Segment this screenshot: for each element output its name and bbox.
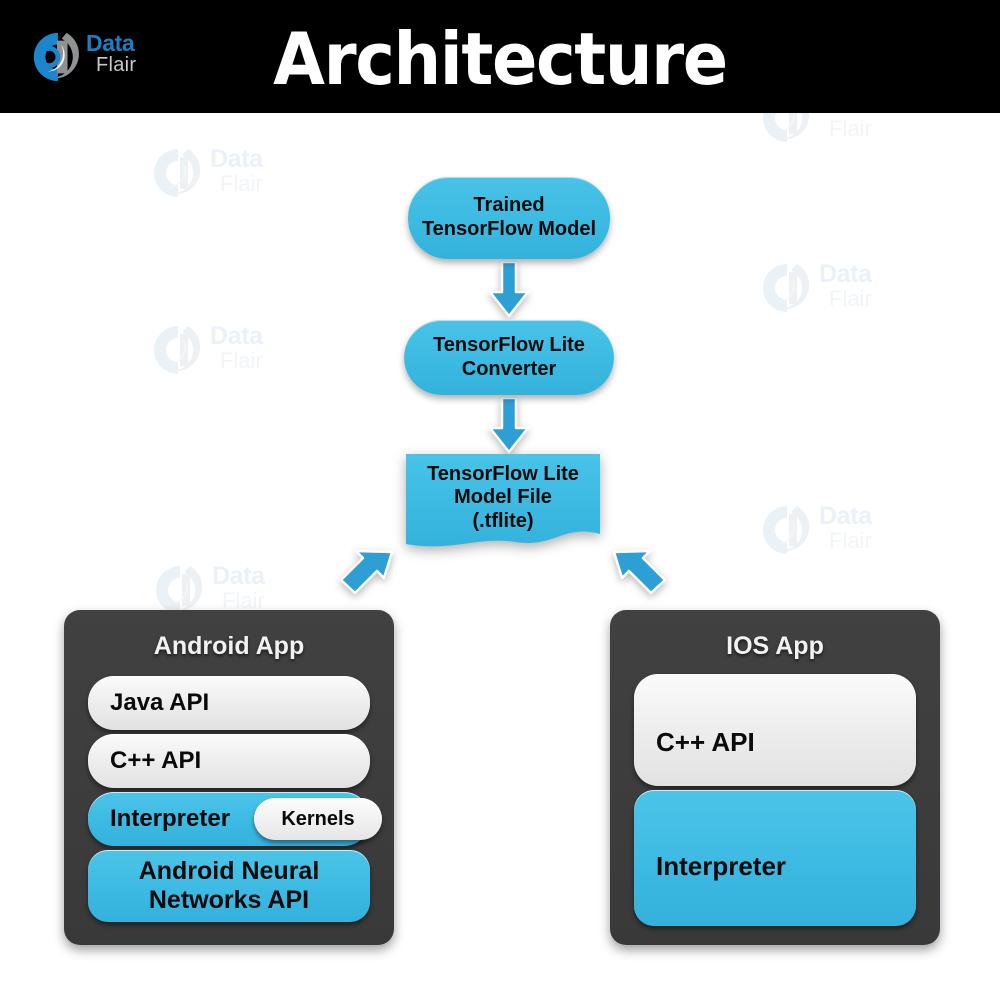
- architecture-diagram: Data Flair Data Flair Data Flair: [0, 0, 1000, 1000]
- header-bar: Data Flair Architecture: [0, 0, 1000, 113]
- watermark-line1: Data: [819, 262, 872, 288]
- panel-title-android: Android App: [64, 632, 394, 661]
- dataflair-mark-icon: [757, 260, 813, 316]
- flow-node-label: Trained TensorFlow Model: [422, 194, 596, 241]
- page-title: Architecture: [35, 17, 965, 101]
- layer-ios-interpreter[interactable]: Interpreter: [634, 790, 916, 926]
- layer-label: Android Neural Networks API: [88, 857, 370, 915]
- badge-kernels[interactable]: Kernels: [254, 798, 382, 840]
- arrow-file-to-android-icon: [336, 548, 398, 600]
- layer-label: C++ API: [656, 727, 755, 758]
- dataflair-mark-icon: [148, 322, 204, 378]
- arrow-model-to-converter-icon: [487, 262, 531, 318]
- platform-panel-ios-app: IOS App C++ API Interpreter: [610, 610, 940, 945]
- watermark-line1: Data: [210, 324, 263, 350]
- flow-node-label: TensorFlow Lite Converter: [433, 334, 585, 381]
- layer-label: Interpreter: [110, 805, 230, 833]
- watermark-line2: Flair: [819, 288, 872, 310]
- flow-node-tflite-converter[interactable]: TensorFlow Lite Converter: [404, 320, 614, 395]
- watermark-line2: Flair: [819, 530, 872, 552]
- panel-title-ios: IOS App: [610, 632, 940, 661]
- watermark-dataflair: Data Flair: [148, 143, 316, 205]
- layer-ios-cpp-api[interactable]: C++ API: [634, 674, 916, 786]
- arrow-converter-to-file-icon: [487, 398, 531, 454]
- flow-node-label: TensorFlow Lite Model File (.tflite): [404, 463, 602, 534]
- watermark-line1: Data: [210, 147, 263, 173]
- layer-label: C++ API: [110, 747, 201, 775]
- dataflair-mark-icon: [148, 145, 204, 201]
- layer-android-nn-api[interactable]: Android Neural Networks API: [88, 850, 370, 922]
- platform-panel-android-app: Android App Java API C++ API Interpreter…: [64, 610, 394, 945]
- layer-cpp-api[interactable]: C++ API: [88, 734, 370, 788]
- watermark-line1: Data: [819, 504, 872, 530]
- arrow-file-to-ios-icon: [608, 548, 670, 600]
- watermark-line1: Data: [212, 564, 265, 590]
- layer-java-api[interactable]: Java API: [88, 676, 370, 730]
- flow-node-tflite-model-file[interactable]: TensorFlow Lite Model File (.tflite): [404, 452, 602, 560]
- layer-label: Java API: [110, 689, 209, 717]
- watermark-dataflair: Data Flair: [757, 500, 925, 562]
- watermark-line2: Flair: [212, 590, 265, 612]
- dataflair-mark-icon: [757, 502, 813, 558]
- watermark-line2: Flair: [819, 118, 872, 140]
- watermark-line2: Flair: [210, 173, 263, 195]
- watermark-dataflair: Data Flair: [757, 258, 925, 320]
- badge-label: Kernels: [281, 808, 354, 831]
- watermark-line2: Flair: [210, 350, 263, 372]
- layer-label: Interpreter: [656, 851, 786, 882]
- flow-node-trained-model[interactable]: Trained TensorFlow Model: [408, 177, 610, 259]
- watermark-dataflair: Data Flair: [148, 320, 316, 382]
